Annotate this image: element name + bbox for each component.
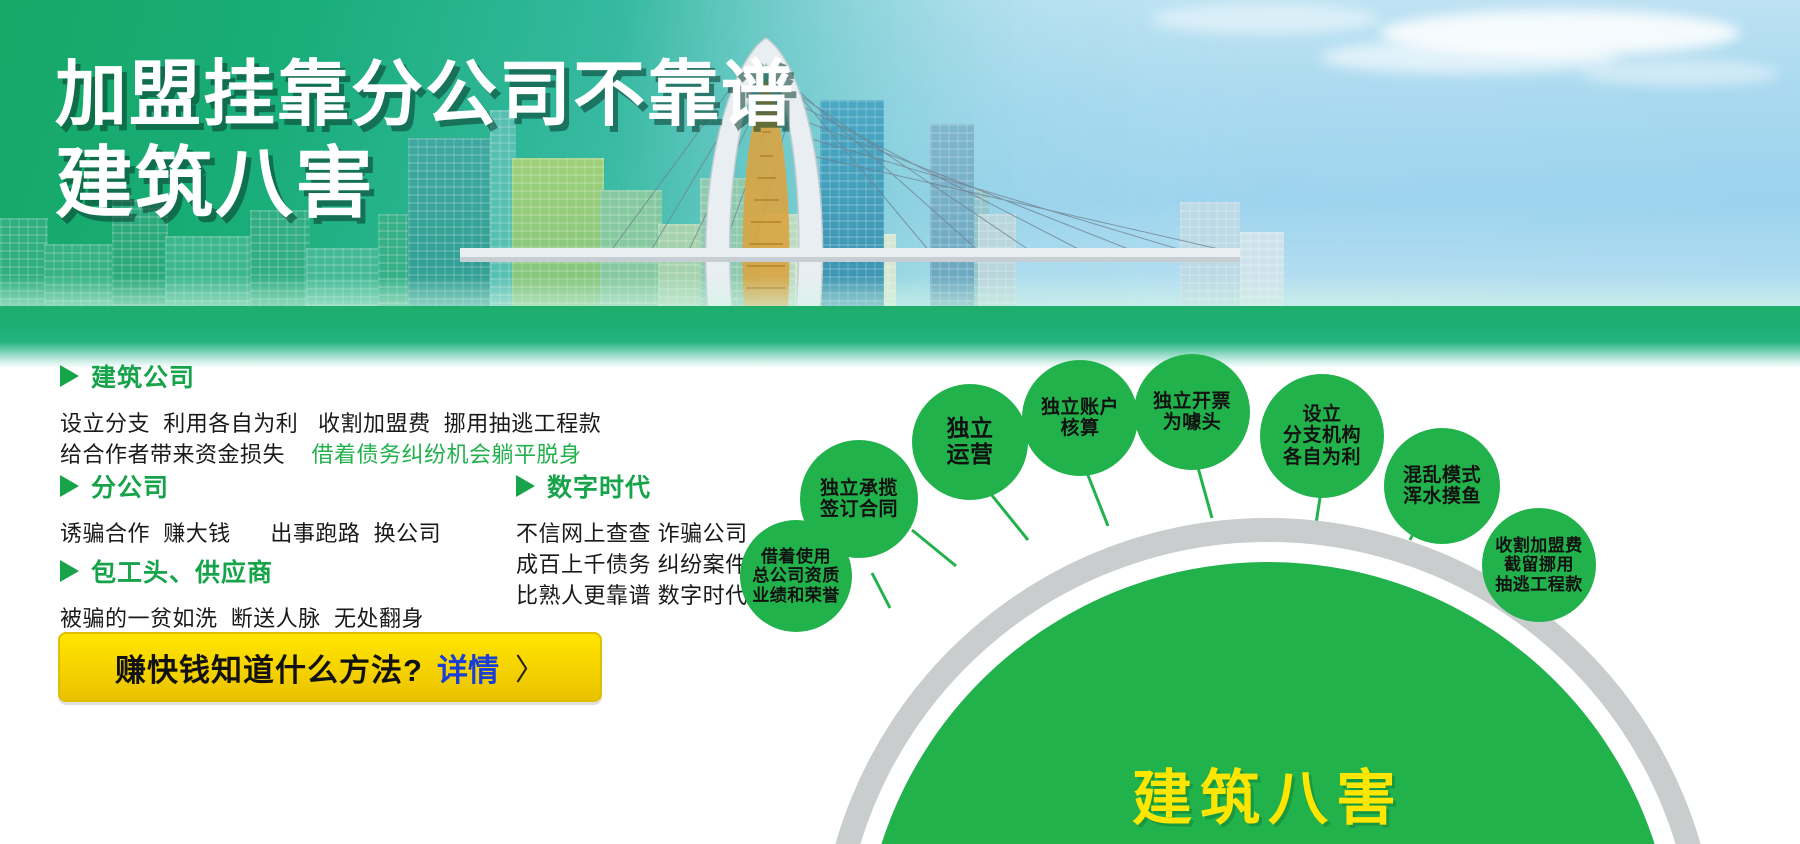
bubble-line: 独立承揽 <box>814 478 904 499</box>
bubble-line: 总公司资质 <box>746 566 846 585</box>
body-line: 成百上千债务 纠纷案件 <box>516 549 748 580</box>
bubble-line: 独立账户 <box>1035 397 1125 418</box>
section-heading-label: 建筑公司 <box>91 358 195 394</box>
left-content: 建筑公司 设立分支 利用各自为利 收割加盟费 挪用抽逃工程款 给合作者带来资金损… <box>0 368 800 844</box>
section-heading: 建筑公司 <box>60 358 601 394</box>
section-heading-label: 包工头、供应商 <box>91 553 273 589</box>
bubble-line: 运营 <box>941 442 1000 468</box>
section-body: 设立分支 利用各自为利 收割加盟费 挪用抽逃工程款 给合作者带来资金损失 借着债… <box>60 408 601 470</box>
bubble-line: 各自为利 <box>1277 447 1367 468</box>
section-heading-label: 数字时代 <box>547 468 651 504</box>
triangle-bullet-icon <box>516 475 535 497</box>
section-body: 不信网上查查 诈骗公司 成百上千债务 纠纷案件 比熟人更靠谱 数字时代 <box>516 518 748 612</box>
section-heading: 分公司 <box>60 468 441 504</box>
bubble-line: 混乱模式 <box>1397 465 1487 486</box>
body-line: 给合作者带来资金损失 借着债务纠纷机会躺平脱身 <box>60 439 601 470</box>
bubble-line: 签订合同 <box>814 499 904 520</box>
section-body: 被骗的一贫如洗 断送人脉 无处翻身 <box>60 603 424 634</box>
section-heading: 数字时代 <box>516 468 748 504</box>
section-digital-era: 数字时代 不信网上查查 诈骗公司 成百上千债务 纠纷案件 比熟人更靠谱 数字时代 <box>516 468 748 612</box>
dome-center-label: 建筑八害 <box>818 750 1718 837</box>
bubble-line: 截留挪用 <box>1489 555 1589 574</box>
section-body: 诱骗合作 赚大钱 出事跑路 换公司 <box>60 518 441 549</box>
triangle-bullet-icon <box>60 365 79 387</box>
bubble-harvest-fee[interactable]: 收割加盟费 截留挪用 抽逃工程款 <box>1482 508 1596 622</box>
bubble-line: 抽逃工程款 <box>1489 575 1589 594</box>
bubble-branch-setup[interactable]: 设立 分支机构 各自为利 <box>1260 374 1384 498</box>
bubble-independent-contract[interactable]: 独立承揽 签订合同 <box>800 440 918 558</box>
bubble-line: 独立开票 <box>1147 391 1237 412</box>
body-line: 被骗的一贫如洗 断送人脉 无处翻身 <box>60 603 424 634</box>
cta-button[interactable]: 赚快钱知道什么方法? 详情 〉 <box>58 632 602 702</box>
bubble-independent-account[interactable]: 独立账户 核算 <box>1022 360 1138 476</box>
poster-page: 猎德大桥 加盟挂靠分公司不靠谱 建筑八害 建筑公司 设立分支 利用各自为利 收割… <box>0 0 1800 844</box>
section-heading: 包工头、供应商 <box>60 553 424 589</box>
hero-title-block: 加盟挂靠分公司不靠谱 建筑八害 <box>55 58 795 224</box>
bubble-line: 业绩和荣誉 <box>746 586 846 605</box>
bubble-line: 分支机构 <box>1277 425 1367 446</box>
bubble-line: 收割加盟费 <box>1489 536 1589 555</box>
bubble-independent-invoice[interactable]: 独立开票 为噱头 <box>1134 354 1250 470</box>
bubble-independent-operation[interactable]: 独立 运营 <box>912 384 1028 500</box>
hero-title-line-2: 建筑八害 <box>55 143 795 224</box>
hero-title-line-1: 加盟挂靠分公司不靠谱 <box>55 58 795 133</box>
body-line: 设立分支 利用各自为利 收割加盟费 挪用抽逃工程款 <box>60 408 601 439</box>
section-branch-company: 分公司 诱骗合作 赚大钱 出事跑路 换公司 <box>60 468 441 549</box>
bubble-line: 为噱头 <box>1147 412 1237 433</box>
cta-details-link[interactable]: 详情 <box>437 645 499 690</box>
triangle-bullet-icon <box>60 560 79 582</box>
bubble-line: 独立 <box>941 416 1000 442</box>
bubble-line: 浑水摸鱼 <box>1397 486 1487 507</box>
body-line-highlight: 借着债务纠纷机会躺平脱身 <box>311 442 581 467</box>
section-contractor-supplier: 包工头、供应商 被骗的一贫如洗 断送人脉 无处翻身 <box>60 553 424 634</box>
diagram-area: 建筑八害 借着使用 总公司资质 业绩和荣誉 独立承揽 签订合同 独立 运营 <box>760 368 1800 844</box>
chevron-right-icon: 〉 <box>515 645 545 689</box>
body-line: 比熟人更靠谱 数字时代 <box>516 580 748 611</box>
bubble-chaotic-mode[interactable]: 混乱模式 浑水摸鱼 <box>1384 428 1500 544</box>
cta-question-label: 赚快钱知道什么方法? <box>115 645 423 690</box>
body-line: 诱骗合作 赚大钱 出事跑路 换公司 <box>60 518 441 549</box>
triangle-bullet-icon <box>60 475 79 497</box>
body-line: 不信网上查查 诈骗公司 <box>516 518 748 549</box>
section-construction-company: 建筑公司 设立分支 利用各自为利 收割加盟费 挪用抽逃工程款 给合作者带来资金损… <box>60 358 601 470</box>
hero-banner: 猎德大桥 加盟挂靠分公司不靠谱 建筑八害 <box>0 0 1800 368</box>
bubble-line: 设立 <box>1277 404 1367 425</box>
bubble-line: 核算 <box>1035 418 1125 439</box>
section-heading-label: 分公司 <box>91 468 169 504</box>
